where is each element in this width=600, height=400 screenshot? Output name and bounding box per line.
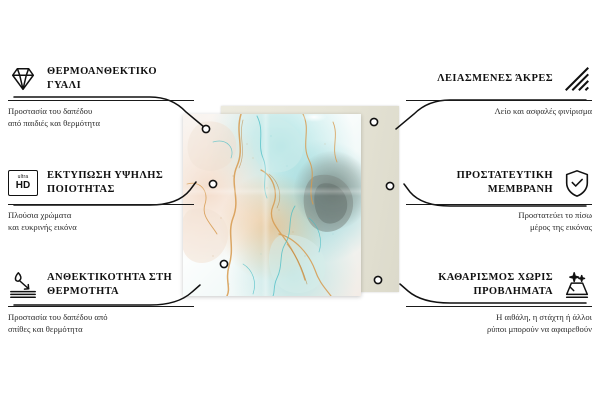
- sponge-sparkle-icon: [562, 270, 592, 300]
- feature-description: Προστασία του δαπέδου από παιδιές και θε…: [8, 106, 194, 130]
- feature-title: ΚΑΘΑΡΙΣΜΟΣ ΧΩΡΙΣ ΠΡΟΒΛΗΜΑΤΑ: [406, 271, 553, 299]
- feature-title: ΑΝΘΕΚΤΙΚΟΤΗΤΑ ΣΤΗ ΘΕΡΜΟΤΗΤΑ: [47, 271, 194, 299]
- ultra-hd-icon-bottom: HD: [16, 181, 30, 191]
- divider: [8, 306, 194, 307]
- feature-polished-edges: ΛΕΙΑΣΜΕΝΕΣ ΆΚΡΕΣ Λείο και ασφαλές φινίρι…: [406, 62, 592, 118]
- hatch-lines-icon: [562, 64, 592, 94]
- infographic-page: ΘΕΡΜΟΑΝΘΕΚΤΙΚΟ ΓΥΑΛΙ Προστασία του δαπέδ…: [0, 0, 600, 400]
- feature-heat-durability: ΑΝΘΕΚΤΙΚΟΤΗΤΑ ΣΤΗ ΘΕΡΜΟΤΗΤΑ Προστασία το…: [8, 268, 194, 336]
- divider: [406, 100, 592, 101]
- diamond-icon: [8, 64, 38, 94]
- feature-heat-resistant-glass: ΘΕΡΜΟΑΝΘΕΚΤΙΚΟ ΓΥΑΛΙ Προστασία του δαπέδ…: [8, 62, 194, 130]
- feature-description: Η αιθάλη, η στάχτη ή άλλοι ρύποι μπορούν…: [406, 312, 592, 336]
- feature-title: ΛΕΙΑΣΜΕΝΕΣ ΆΚΡΕΣ: [437, 72, 553, 86]
- feature-protective-membrane: ΠΡΟΣΤΑΤΕΥΤΙΚΗ ΜΕΜΒΡΑΝΗ Προστατεύει το πί…: [406, 166, 592, 234]
- feature-title: ΘΕΡΜΟΑΝΘΕΚΤΙΚΟ ΓΥΑΛΙ: [47, 65, 194, 93]
- divider: [8, 100, 194, 101]
- glass-panel: [183, 114, 361, 296]
- feature-easy-cleaning: ΚΑΘΑΡΙΣΜΟΣ ΧΩΡΙΣ ΠΡΟΒΛΗΜΑΤΑ Η αιθάλη, η …: [406, 268, 592, 336]
- divider: [406, 306, 592, 307]
- feature-title: ΕΚΤΥΠΩΣΗ ΥΨΗΛΗΣ ΠΟΙΟΤΗΤΑΣ: [47, 169, 194, 197]
- product-image: [183, 110, 396, 296]
- shield-check-icon: [562, 168, 592, 198]
- marble-artwork: [183, 114, 361, 296]
- feature-high-quality-print: ultra HD ΕΚΤΥΠΩΣΗ ΥΨΗΛΗΣ ΠΟΙΟΤΗΤΑΣ Πλούσ…: [8, 166, 194, 234]
- flame-deflect-icon: [8, 270, 38, 300]
- ultra-hd-icon: ultra HD: [8, 170, 38, 196]
- glass-highlight: [301, 114, 327, 122]
- divider: [406, 204, 592, 205]
- feature-description: Πλούσια χρώματα και ευκρινής εικόνα: [8, 210, 194, 234]
- feature-description: Προστασία του δαπέδου από σπίθες και θερ…: [8, 312, 194, 336]
- feature-description: Προστατεύει το πίσω μέρος της εικόνας: [406, 210, 592, 234]
- feature-title: ΠΡΟΣΤΑΤΕΥΤΙΚΗ ΜΕΜΒΡΑΝΗ: [406, 169, 553, 197]
- divider: [8, 204, 194, 205]
- feature-description: Λείο και ασφαλές φινίρισμα: [406, 106, 592, 118]
